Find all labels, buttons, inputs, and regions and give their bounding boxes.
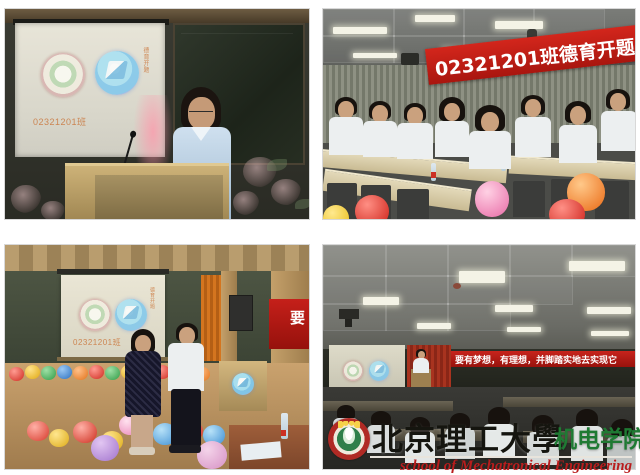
photo-top-right: 02321201班德育开题	[322, 8, 636, 220]
ceiling-tile	[393, 9, 465, 37]
photo-bottom-left: 02321201班 德育开题 要	[4, 244, 310, 470]
student-head	[525, 99, 541, 117]
ceiling-tile	[509, 275, 573, 305]
audience-shirt	[483, 424, 515, 457]
blue-emblem-icon	[232, 373, 254, 395]
student-figure	[397, 103, 433, 159]
student-shirt	[601, 111, 636, 151]
audience-shirt	[445, 428, 475, 459]
blue-emblem-icon	[115, 299, 147, 331]
student-figure	[559, 101, 597, 163]
bit-emblem-icon	[343, 361, 363, 381]
student-shirt	[559, 125, 597, 163]
side-banner-text: 要	[290, 307, 305, 328]
ceiling-light	[495, 305, 533, 312]
water-bottle	[281, 413, 288, 439]
bit-emblem-icon	[41, 53, 85, 97]
ceiling-tile	[323, 245, 387, 277]
balloon	[475, 181, 509, 217]
audience-hair	[532, 415, 554, 433]
presenter-shoes	[129, 447, 155, 455]
screen-side-text: 德育开题	[149, 287, 156, 309]
student-figure	[363, 101, 397, 157]
audience-figure	[571, 409, 603, 461]
projection-screen	[329, 345, 405, 393]
floral-motif	[41, 201, 65, 220]
balloon	[355, 195, 389, 220]
audience-hair	[488, 407, 510, 425]
screen-class-label: 02321201班	[33, 115, 87, 128]
podium	[219, 361, 267, 411]
audience-shirt	[333, 418, 359, 445]
student-shirt	[469, 131, 511, 169]
student-shirt	[435, 121, 469, 157]
presenter-trousers	[171, 389, 201, 447]
ceiling-light	[417, 323, 451, 329]
ceiling-light	[591, 331, 629, 336]
student-figure	[515, 95, 551, 157]
smoke-detector-icon	[453, 283, 461, 289]
student-figure	[329, 97, 363, 155]
ceiling-light	[459, 271, 505, 283]
blue-emblem-icon	[369, 361, 389, 381]
ceiling-beams	[5, 245, 309, 271]
audience-figure	[405, 417, 435, 463]
presenter-male	[167, 323, 205, 457]
wall-speaker	[229, 295, 253, 331]
student-figure	[601, 89, 636, 151]
audience-hair	[450, 413, 470, 429]
presenter-female	[123, 329, 161, 457]
student-head	[444, 103, 460, 121]
ceiling-light	[495, 21, 543, 29]
audience-shirt	[527, 432, 559, 465]
audience-hair	[337, 405, 355, 419]
ceiling-light	[507, 327, 541, 332]
student-figure	[435, 97, 469, 157]
motto-banner-text: 要有梦想，有理想，并脚踏实地去实现它	[455, 353, 635, 366]
audience-figure	[333, 405, 359, 445]
screen-side-text: 德育开题	[141, 47, 150, 73]
presenter-shoes	[169, 445, 201, 453]
projector	[339, 309, 359, 319]
ceiling-light	[333, 27, 387, 34]
audience-hair	[576, 409, 598, 427]
audience-figure	[483, 407, 515, 457]
student-shirt	[515, 117, 551, 157]
podium-front-panel	[95, 175, 223, 220]
audience-shirt	[367, 425, 395, 453]
ceiling-tile	[323, 35, 395, 63]
presenter-dress	[125, 351, 161, 417]
student-head	[481, 112, 499, 132]
floral-motif	[233, 191, 259, 215]
photo-top-left: 02321201班 德育开题	[4, 8, 310, 220]
audience-desk	[503, 397, 636, 407]
presenter-shirt	[413, 358, 429, 373]
student-figure	[469, 105, 511, 169]
balloon	[57, 365, 72, 379]
audience-figure	[527, 415, 559, 465]
audience-hair	[611, 419, 633, 437]
audience-shirt	[571, 426, 603, 461]
audience-hair	[371, 411, 391, 426]
ceiling-light	[415, 15, 455, 22]
screen-top-bar	[57, 269, 169, 274]
audience-figure	[445, 413, 475, 459]
ceiling-speaker	[401, 53, 419, 65]
balloon	[41, 366, 56, 380]
ceiling-light	[363, 297, 399, 305]
balloon	[25, 365, 40, 379]
balloon	[49, 429, 69, 447]
balloon	[91, 435, 119, 461]
audience-figure	[367, 411, 395, 453]
blue-emblem-icon	[95, 51, 139, 95]
student-shirt	[329, 117, 363, 155]
audience-shirt	[405, 432, 435, 463]
student-shirt	[397, 123, 433, 159]
student-shirt	[363, 121, 397, 157]
presenter-figure	[413, 349, 429, 373]
balloon	[105, 366, 120, 380]
student-head	[570, 106, 586, 125]
presenter-shirt	[168, 343, 204, 391]
balloon	[27, 421, 49, 441]
ceiling-light	[569, 261, 625, 271]
chair	[397, 189, 429, 220]
photo-bottom-right: 要有梦想，有理想，并脚踏实地去实现它	[322, 244, 636, 470]
ceiling-tile	[509, 245, 573, 277]
floral-motif	[11, 185, 41, 213]
audience-shirt	[607, 436, 636, 470]
ceiling-light	[587, 307, 631, 314]
collage-page: 02321201班 德育开题	[0, 0, 640, 474]
presenter-legs	[131, 415, 153, 449]
balloon	[73, 366, 88, 380]
chair	[513, 181, 545, 217]
audience-hair	[410, 417, 430, 433]
ceiling-light	[353, 53, 397, 58]
glasses-icon	[189, 111, 213, 115]
student-head	[610, 93, 626, 111]
water-bottle	[431, 163, 436, 181]
bit-emblem-icon	[79, 299, 111, 331]
balloon	[89, 365, 104, 379]
balloon	[9, 367, 24, 381]
audience-figure	[607, 419, 636, 470]
ceiling-tile	[385, 245, 449, 277]
screen-class-label: 02321201班	[73, 337, 121, 348]
